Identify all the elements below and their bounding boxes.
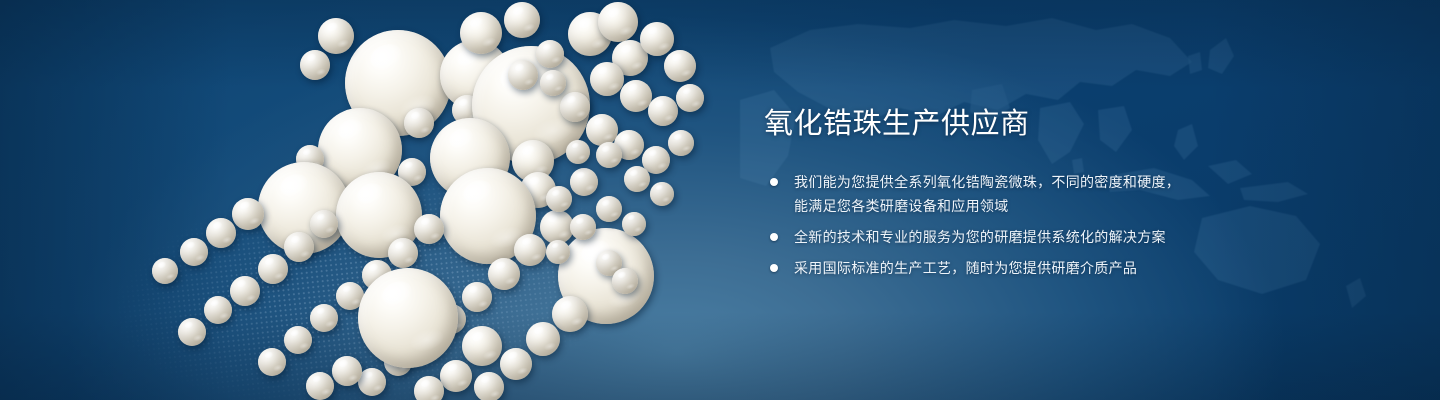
bullet-dot-icon <box>770 178 778 186</box>
ceramic-bead <box>640 22 674 56</box>
ceramic-bead <box>460 12 502 54</box>
list-item: 全新的技术和专业的服务为您的研磨提供系统化的解决方案 <box>764 225 1404 249</box>
feature-bullet-list: 我们能为您提供全系列氧化锆陶瓷微珠，不同的密度和硬度，能满足您各类研磨设备和应用… <box>764 170 1404 280</box>
bullet-text-line: 采用国际标准的生产工艺，随时为您提供研磨介质产品 <box>794 256 1404 280</box>
ceramic-bead <box>622 212 646 236</box>
bullet-text-line: 全新的技术和专业的服务为您的研磨提供系统化的解决方案 <box>794 225 1404 249</box>
ceramic-bead <box>230 276 260 306</box>
ceramic-bead <box>206 218 236 248</box>
ceramic-bead <box>668 130 694 156</box>
ceramic-bead <box>586 114 618 146</box>
ceramic-bead <box>540 70 566 96</box>
ceramic-bead <box>570 168 598 196</box>
ceramic-bead <box>540 210 574 244</box>
ceramic-bead <box>178 318 206 346</box>
banner-copy-block: 氧化锆珠生产供应商 我们能为您提供全系列氧化锆陶瓷微珠，不同的密度和硬度，能满足… <box>764 104 1404 280</box>
ceramic-bead <box>440 360 472 392</box>
ceramic-bead <box>258 254 288 284</box>
ceramic-bead <box>300 50 330 80</box>
ceramic-bead <box>566 140 590 164</box>
list-item: 我们能为您提供全系列氧化锆陶瓷微珠，不同的密度和硬度，能满足您各类研磨设备和应用… <box>764 170 1404 218</box>
ceramic-bead <box>650 182 674 206</box>
ceramic-bead <box>536 40 564 68</box>
ceramic-bead <box>526 322 560 356</box>
ceramic-bead <box>596 196 622 222</box>
ceramic-bead <box>620 80 652 112</box>
list-item: 采用国际标准的生产工艺，随时为您提供研磨介质产品 <box>764 256 1404 280</box>
ceramic-bead <box>590 62 624 96</box>
ceramic-bead <box>462 282 492 312</box>
ceramic-bead <box>648 96 678 126</box>
ceramic-bead <box>624 166 650 192</box>
ceramic-bead <box>508 60 538 90</box>
ceramic-bead <box>570 214 596 240</box>
ceramic-bead <box>358 268 458 368</box>
bullet-dot-icon <box>770 233 778 241</box>
ceramic-bead <box>332 356 362 386</box>
ceramic-bead <box>404 108 434 138</box>
ceramic-bead <box>504 2 540 38</box>
bullet-text-line: 我们能为您提供全系列氧化锆陶瓷微珠，不同的密度和硬度， <box>794 170 1404 194</box>
ceramic-bead <box>598 2 638 42</box>
ceramic-bead <box>596 142 622 168</box>
ceramic-bead <box>414 214 444 244</box>
ceramic-bead <box>204 296 232 324</box>
bullet-text-line: 能满足您各类研磨设备和应用领域 <box>794 194 1404 218</box>
ceramic-bead <box>546 186 572 212</box>
ceramic-bead <box>388 238 418 268</box>
ceramic-bead <box>664 50 696 82</box>
ceramic-bead <box>284 326 312 354</box>
ceramic-bead <box>462 326 502 366</box>
ceramic-bead <box>500 348 532 380</box>
ceramic-bead <box>306 372 334 400</box>
ceramic-bead <box>488 258 520 290</box>
ceramic-bead <box>152 258 178 284</box>
ceramic-bead <box>560 92 590 122</box>
page-title: 氧化锆珠生产供应商 <box>764 104 1404 144</box>
bullet-dot-icon <box>770 264 778 272</box>
hero-banner: 氧化锆珠生产供应商 我们能为您提供全系列氧化锆陶瓷微珠，不同的密度和硬度，能满足… <box>0 0 1440 400</box>
ceramic-bead <box>546 240 570 264</box>
ceramic-bead <box>514 234 546 266</box>
ceramic-bead <box>310 304 338 332</box>
ceramic-bead <box>414 376 444 400</box>
ceramic-bead <box>612 268 638 294</box>
ceramic-bead <box>180 238 208 266</box>
ceramic-bead <box>552 296 588 332</box>
ceramic-bead <box>258 348 286 376</box>
ceramic-bead <box>318 18 354 54</box>
ceramic-bead <box>310 210 338 238</box>
zirconia-beads-product-image <box>0 0 760 400</box>
ceramic-bead <box>676 84 704 112</box>
ceramic-bead <box>358 368 386 396</box>
ceramic-bead <box>284 232 314 262</box>
ceramic-bead <box>232 198 264 230</box>
ceramic-bead <box>474 372 504 400</box>
